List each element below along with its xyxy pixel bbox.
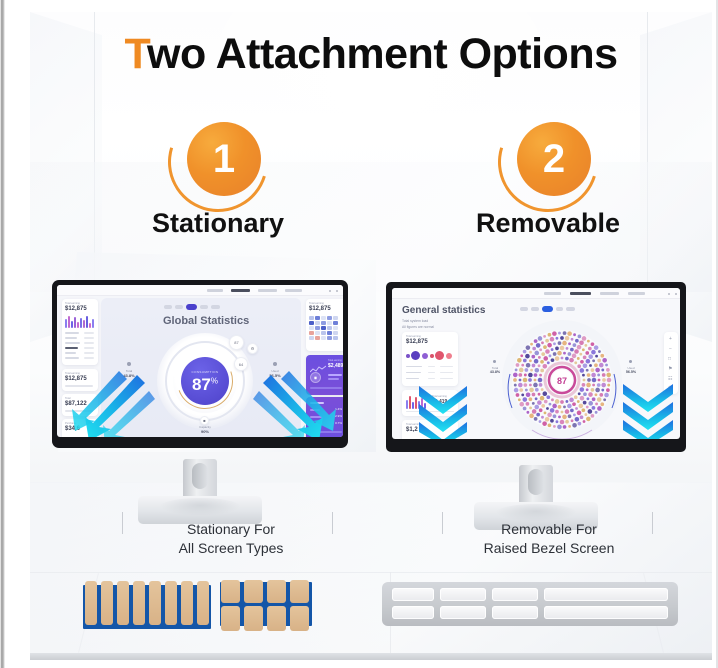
adhesive-strip bbox=[101, 581, 113, 625]
shelf-front-edge bbox=[30, 653, 712, 660]
screen-window-dot-right-b[interactable] bbox=[675, 293, 677, 295]
range-tab-1h-right[interactable] bbox=[520, 307, 528, 311]
option-badge-1: 1 bbox=[168, 112, 268, 212]
screen-tab-statements-right[interactable] bbox=[600, 292, 619, 295]
tool-plus-icon[interactable]: + bbox=[669, 336, 672, 342]
caption-stationary-line2: All Screen Types bbox=[126, 539, 336, 558]
svg-text:87: 87 bbox=[557, 376, 567, 386]
stat-value-capacity-left: 90% bbox=[189, 429, 221, 434]
caption-leader-right-2 bbox=[652, 512, 653, 534]
screen-tab-dashboard-right[interactable] bbox=[570, 292, 591, 295]
sidebar-card-right-2-sparkline bbox=[310, 360, 326, 368]
sidebar-card-right-1[interactable]: Total earning $12,875 bbox=[306, 299, 343, 351]
mount-strip bbox=[492, 606, 538, 619]
sidebar-card-left-1-label: Total earning bbox=[65, 302, 80, 305]
caption-removable: Removable For Raised Bezel Screen bbox=[446, 520, 652, 558]
gauge-caption-left: CONSUMPTION bbox=[192, 370, 219, 374]
adhesive-strip bbox=[117, 581, 129, 625]
mount-strip bbox=[392, 606, 434, 619]
screen-tab-overview-left[interactable] bbox=[231, 289, 250, 292]
tool-minus-icon[interactable]: − bbox=[669, 346, 672, 352]
screen-window-dot-right-a[interactable] bbox=[668, 293, 670, 295]
adhesive-strip bbox=[181, 581, 193, 625]
sidebar-card-right-1-heatmap bbox=[309, 316, 343, 346]
mount-strip bbox=[544, 606, 668, 619]
screen-title-right: General statistics bbox=[402, 305, 485, 316]
badge-number-1: 1 bbox=[187, 122, 261, 196]
option-heading-1: Stationary bbox=[88, 208, 348, 239]
screen-tab-analytics-left[interactable] bbox=[285, 289, 302, 292]
stat-value-used-right: 56.5% bbox=[620, 370, 642, 374]
stat-icon-used-right bbox=[629, 360, 632, 363]
accessory-mount-strip-tray bbox=[382, 582, 678, 626]
adhesive-tab bbox=[244, 606, 263, 631]
gauge-core-left: CONSUMPTION 87% bbox=[181, 357, 229, 405]
screen-tab-summary-left[interactable] bbox=[207, 289, 223, 292]
chevron-stack-inner-removable bbox=[416, 384, 470, 439]
stat-icon-capacity-left: ■ bbox=[200, 416, 209, 425]
caption-stationary-line1: Stationary For bbox=[126, 520, 336, 539]
range-tab-1h-left[interactable] bbox=[164, 305, 172, 309]
arrow-bottom-left-stationary bbox=[59, 369, 155, 437]
sidebar-card-left-1[interactable]: Total earning $12,875 bbox=[62, 299, 98, 365]
tool-flag-icon[interactable]: ⚑ bbox=[668, 366, 672, 372]
screen-stat-used-right: Used 56.5% bbox=[620, 366, 642, 374]
adhesive-strip bbox=[133, 581, 145, 625]
adhesive-tab bbox=[290, 580, 309, 603]
screen-stat-total-right: Total 43.8% bbox=[484, 366, 506, 374]
chevron-stack-right-removable bbox=[620, 382, 676, 439]
sidebar-card-left-1-value: $12,875 bbox=[65, 306, 87, 312]
caption-removable-line1: Removable For bbox=[446, 520, 652, 539]
tool-square-icon[interactable]: □ bbox=[668, 356, 671, 362]
monitor-bezel-right: General statistics Total system load All… bbox=[386, 282, 686, 452]
screen-window-dot-left-a[interactable] bbox=[329, 290, 331, 292]
adhesive-tab bbox=[221, 606, 240, 631]
caption-leader-left bbox=[122, 512, 123, 534]
mount-strip bbox=[440, 588, 486, 601]
removable-card-1-bubbles bbox=[406, 350, 454, 362]
removable-card-1-value: $12,875 bbox=[406, 339, 428, 345]
monitor-stand-neck-left bbox=[183, 459, 217, 501]
mount-strip bbox=[492, 588, 538, 601]
screen-removable[interactable]: General statistics Total system load All… bbox=[392, 288, 680, 439]
adhesive-tab bbox=[290, 606, 309, 631]
page-title-accent-letter: T bbox=[124, 30, 147, 78]
option-heading-2: Removable bbox=[418, 208, 678, 239]
screen-title-left: Global Statistics bbox=[163, 315, 249, 327]
gauge-value-left: 87% bbox=[192, 376, 218, 393]
gauge-chip-87-left[interactable]: 87 bbox=[229, 335, 244, 350]
radial-burst-chart: 87 bbox=[498, 316, 626, 439]
adhesive-strip bbox=[149, 581, 161, 625]
option-badge-2: 2 bbox=[498, 112, 598, 212]
adhesive-tab bbox=[244, 580, 263, 603]
mount-strip bbox=[544, 588, 668, 601]
range-tab-1d-right[interactable] bbox=[531, 307, 539, 311]
caption-stationary: Stationary For All Screen Types bbox=[126, 520, 336, 558]
screen-window-dot-left-b[interactable] bbox=[336, 290, 338, 292]
removable-card-1[interactable]: Total earning $12,875 bbox=[402, 332, 458, 386]
sidebar-card-right-1-label: Total earning bbox=[309, 302, 324, 305]
sidebar-card-right-1-value: $12,875 bbox=[309, 306, 331, 312]
gauge-chip-64-left[interactable]: 64 bbox=[234, 357, 248, 371]
range-tab-1d-left[interactable] bbox=[175, 305, 183, 309]
background-desk bbox=[30, 482, 712, 660]
gauge-chip-settings-left[interactable]: ⚙ bbox=[247, 343, 258, 354]
background-desk-seam bbox=[30, 572, 712, 573]
range-tab-1w-left[interactable] bbox=[186, 304, 197, 310]
sidebar-card-left-1-barchart bbox=[65, 316, 95, 328]
removable-card-1-label: Total earning bbox=[406, 335, 421, 338]
accessory-adhesive-comb bbox=[83, 581, 211, 631]
stat-icon-used-left bbox=[273, 362, 277, 366]
stat-icon-total-right bbox=[493, 360, 496, 363]
screen-stat-capacity-left: ■ Capacity 90% bbox=[189, 425, 221, 434]
screen-stationary[interactable]: Global Statistics CONSUMPTION 87% 87 ⚙ 6… bbox=[57, 285, 343, 437]
screen-subtitle-right-2: All figures are normal bbox=[402, 325, 434, 329]
mount-strip bbox=[440, 606, 486, 619]
mount-strip bbox=[392, 588, 434, 601]
adhesive-strip bbox=[197, 581, 209, 625]
range-tab-1y-right[interactable] bbox=[566, 307, 575, 311]
badge-number-2: 2 bbox=[517, 122, 591, 196]
range-tab-1w-right[interactable] bbox=[542, 306, 553, 312]
adhesive-strip bbox=[165, 581, 177, 625]
stat-icon-total-left bbox=[127, 362, 131, 366]
adhesive-tab bbox=[267, 606, 286, 631]
sidebar-card-right-2-label: Total earning bbox=[328, 359, 342, 362]
adhesive-strip bbox=[85, 581, 97, 625]
monitor-stand-neck-right bbox=[519, 465, 553, 507]
page-title: Two Attachment Options bbox=[30, 30, 712, 79]
monitor-bezel-left: Global Statistics CONSUMPTION 87% 87 ⚙ 6… bbox=[52, 280, 348, 448]
screen-subtitle-right-1: Total system load bbox=[402, 319, 428, 323]
caption-removable-line2: Raised Bezel Screen bbox=[446, 539, 652, 558]
stat-value-total-right: 43.8% bbox=[484, 370, 506, 374]
range-tab-1m-left[interactable] bbox=[200, 305, 208, 309]
range-tab-1m-right[interactable] bbox=[556, 307, 563, 311]
adhesive-tab bbox=[221, 580, 240, 603]
left-edge-rail bbox=[0, 0, 5, 668]
screen-tab-analytics-right[interactable] bbox=[628, 292, 645, 295]
infographic-stage: Two Attachment Options 1 Stationary 2 Re… bbox=[30, 12, 712, 660]
accessory-adhesive-tab-grid bbox=[220, 580, 312, 632]
screen-tab-statements-left[interactable] bbox=[258, 289, 277, 292]
arrow-bottom-right-stationary bbox=[253, 369, 343, 437]
adhesive-tab bbox=[267, 580, 286, 603]
range-tab-1y-left[interactable] bbox=[211, 305, 220, 309]
caption-leader-right bbox=[442, 512, 443, 534]
screen-tab-summary-right[interactable] bbox=[544, 292, 561, 295]
page-title-rest: wo Attachment Options bbox=[147, 30, 617, 78]
